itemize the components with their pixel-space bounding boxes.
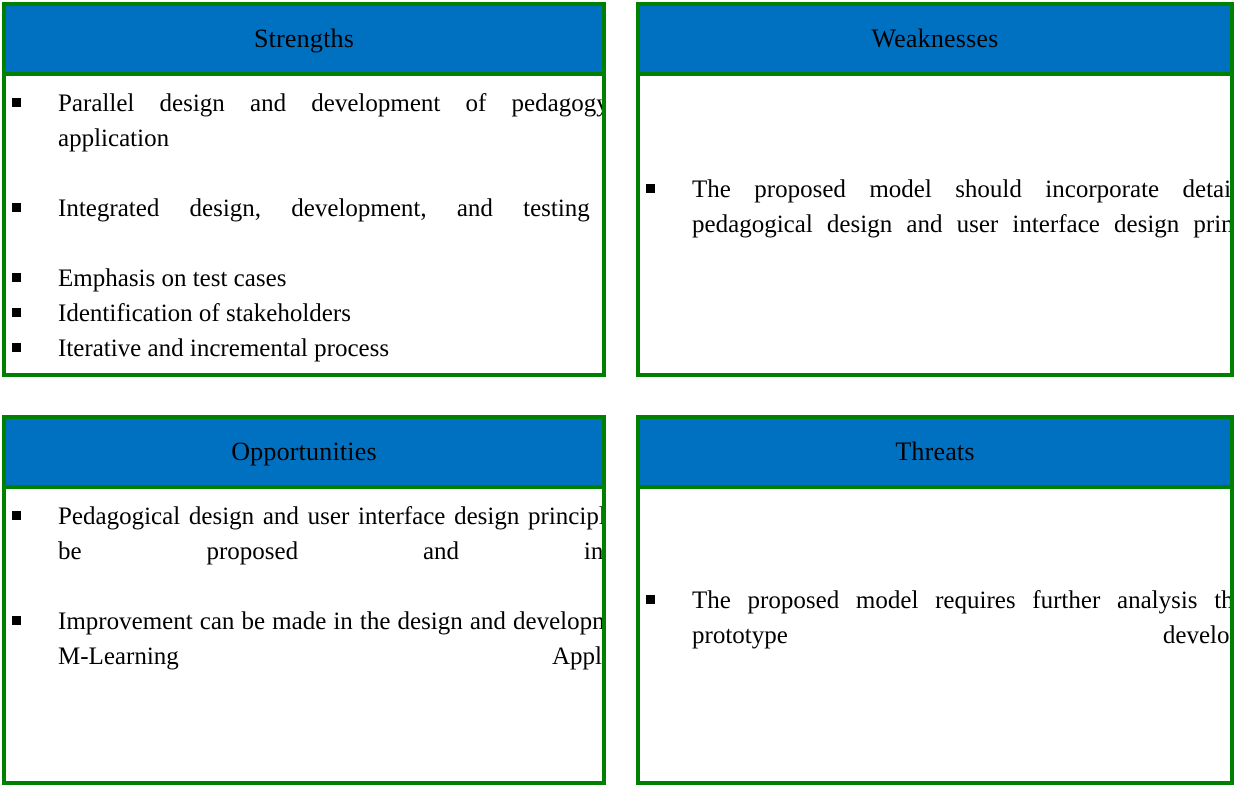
quadrant-header-threats: Threats	[640, 419, 1230, 489]
list-item: Improvement can be made in the design an…	[6, 604, 602, 709]
list-item-label: Parallel design and development of pedag…	[58, 86, 602, 191]
quadrant-body-threats: The proposed model requires further anal…	[640, 489, 1230, 781]
square-bullet-icon	[12, 308, 21, 317]
list-item: Parallel design and development of pedag…	[6, 86, 602, 191]
quadrant-title-strengths: Strengths	[254, 26, 354, 52]
square-bullet-icon	[12, 616, 21, 625]
quadrant-strengths: Strengths Parallel design and developmen…	[2, 2, 606, 377]
quadrant-opportunities: Opportunities Pedagogical design and use…	[2, 415, 606, 785]
square-bullet-icon	[646, 184, 655, 193]
quadrant-weaknesses: Weaknesses The proposed model should inc…	[636, 2, 1234, 377]
quadrant-title-weaknesses: Weaknesses	[872, 26, 999, 52]
quadrant-title-opportunities: Opportunities	[231, 439, 377, 465]
square-bullet-icon	[12, 511, 21, 520]
quadrant-title-threats: Threats	[895, 439, 974, 465]
square-bullet-icon	[646, 595, 655, 604]
list-item: The proposed model should incorporate de…	[640, 172, 1230, 277]
list-item-label: Pedagogical design and user interface de…	[58, 499, 602, 604]
square-bullet-icon	[12, 273, 21, 282]
quadrant-header-weaknesses: Weaknesses	[640, 6, 1230, 76]
list-item-label: The proposed model should incorporate de…	[692, 172, 1230, 277]
list-item: Integrated design, development, and test…	[6, 191, 602, 261]
list-item: The proposed model requires further anal…	[640, 583, 1230, 688]
list-item-label: Emphasis on test cases	[58, 261, 602, 296]
bullet-list-threats: The proposed model requires further anal…	[640, 583, 1230, 688]
list-item-label: Identification of stakeholders	[58, 296, 602, 331]
list-item-label: Integrated design, development, and test…	[58, 191, 602, 261]
bullet-list-weaknesses: The proposed model should incorporate de…	[640, 172, 1230, 277]
list-item-label: Improvement can be made in the design an…	[58, 604, 602, 709]
quadrant-body-weaknesses: The proposed model should incorporate de…	[640, 76, 1230, 373]
quadrant-header-strengths: Strengths	[6, 6, 602, 76]
swot-matrix: Strengths Parallel design and developmen…	[0, 0, 1236, 793]
quadrant-body-opportunities: Pedagogical design and user interface de…	[6, 489, 602, 781]
bullet-list-opportunities: Pedagogical design and user interface de…	[6, 499, 602, 709]
list-item: Identification of stakeholders	[6, 296, 602, 331]
quadrant-header-opportunities: Opportunities	[6, 419, 602, 489]
list-item-label: The proposed model requires further anal…	[692, 583, 1230, 688]
bullet-list-strengths: Parallel design and development of pedag…	[6, 86, 602, 366]
square-bullet-icon	[12, 98, 21, 107]
list-item-label: Iterative and incremental process	[58, 331, 602, 366]
list-item: Pedagogical design and user interface de…	[6, 499, 602, 604]
list-item: Iterative and incremental process	[6, 331, 602, 366]
square-bullet-icon	[12, 203, 21, 212]
square-bullet-icon	[12, 343, 21, 352]
quadrant-body-strengths: Parallel design and development of pedag…	[6, 76, 602, 373]
quadrant-threats: Threats The proposed model requires furt…	[636, 415, 1234, 785]
list-item: Emphasis on test cases	[6, 261, 602, 296]
